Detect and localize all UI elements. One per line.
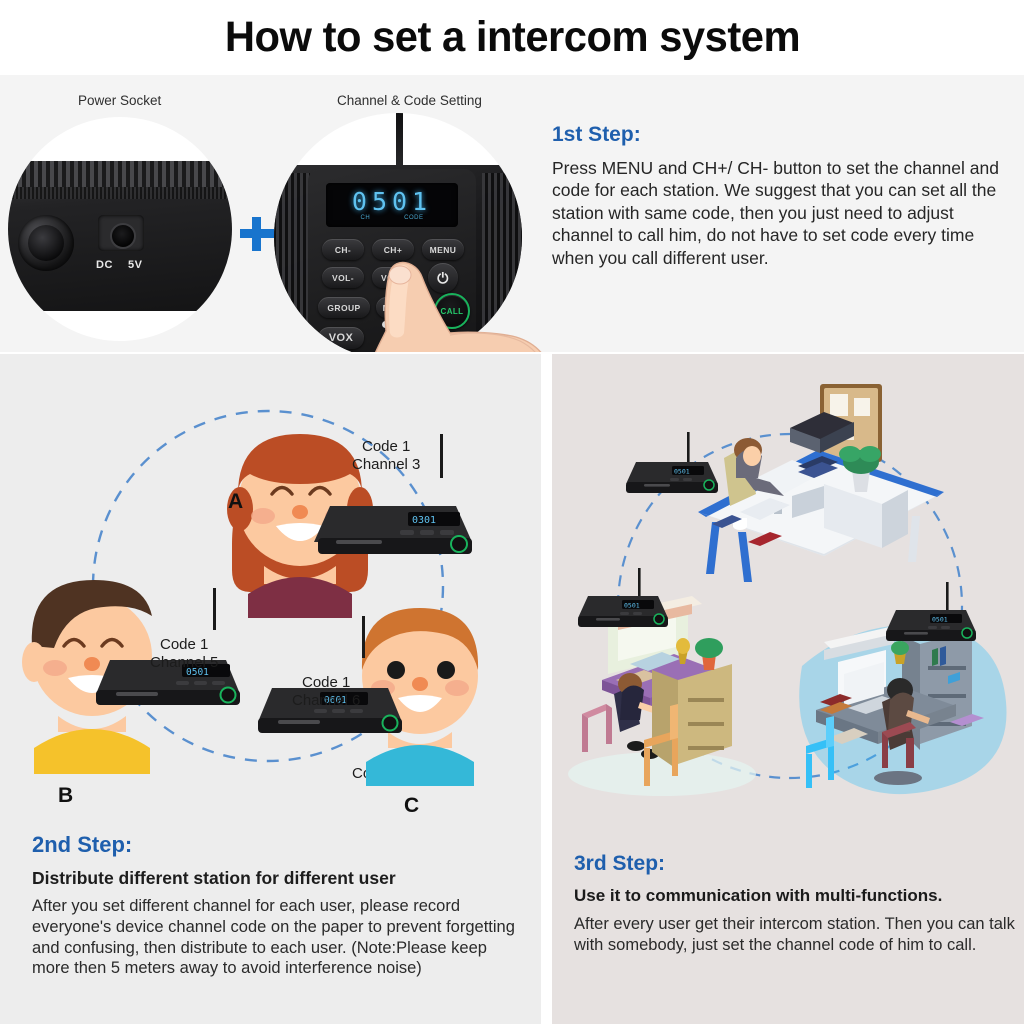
- person-c-code-label: Code 1 Channel 6: [292, 674, 360, 709]
- step3-text-block: 3rd Step: Use it to communication with m…: [574, 852, 1020, 956]
- socket-knob: [18, 215, 74, 271]
- person-c-letter: C: [404, 794, 419, 817]
- step1-body: Press MENU and CH+/ CH- button to set th…: [552, 157, 1014, 269]
- socket-vent-strip: [8, 187, 232, 199]
- socket-device-body: DC 5V: [8, 161, 232, 311]
- volts-label: 5V: [128, 259, 142, 271]
- dc-jack-hole: [110, 223, 136, 249]
- device-study: 0501: [886, 582, 976, 641]
- step3-diagram: 0501: [552, 354, 1024, 834]
- step2-diagram: A 0301 Code 1: [0, 354, 541, 824]
- scene-office-desk: [698, 384, 944, 582]
- step2-heading: 2nd Step:: [32, 832, 524, 858]
- plus-icon: [240, 217, 274, 251]
- svg-text:0501: 0501: [674, 468, 690, 476]
- svg-text:0501: 0501: [624, 602, 640, 610]
- display-ch-label: CH: [360, 215, 370, 221]
- antenna: [396, 113, 403, 173]
- person-c-channel-text: Channel 6: [292, 692, 360, 710]
- person-b-channel-text: Channel 5: [150, 654, 218, 672]
- step2-text-block: 2nd Step: Distribute different station f…: [32, 832, 524, 979]
- step1-text-block: 1st Step: Press MENU and CH+/ CH- button…: [552, 123, 1014, 269]
- person-b-letter: B: [58, 784, 73, 807]
- infographic-root: How to set a intercom system Power Socke…: [0, 0, 1024, 1024]
- page-title: How to set a intercom system: [224, 13, 799, 62]
- person-a-channel-text: Channel 3: [352, 456, 420, 474]
- display-sublabels: CH CODE: [360, 215, 423, 221]
- pointing-hand: [330, 257, 560, 352]
- socket-speaker-grill: [8, 161, 232, 187]
- person-a-code-label: Code 1 Channel 3: [352, 438, 420, 473]
- person-b-code-label: Code 1 Channel 5: [150, 636, 218, 671]
- person-b-code-text: Code 1: [150, 636, 218, 654]
- lcd-display: 0501 CH CODE: [326, 183, 458, 227]
- svg-text:0501: 0501: [932, 616, 948, 624]
- dc-jack: [98, 215, 144, 251]
- caption-power-socket: Power Socket: [78, 93, 161, 108]
- svg-text:0301: 0301: [412, 515, 436, 526]
- caption-channel-code-setting: Channel & Code Setting: [337, 93, 482, 108]
- step1-heading: 1st Step:: [552, 123, 1014, 147]
- display-code-label: CODE: [404, 215, 423, 221]
- step3-body: After every user get their intercom stat…: [574, 914, 1020, 956]
- step1-panel: Power Socket Channel & Code Setting DC 5…: [0, 75, 1024, 352]
- title-band: How to set a intercom system: [0, 0, 1024, 75]
- step2-panel: A 0301 Code 1: [0, 354, 541, 1024]
- display-value: 0501: [352, 189, 432, 214]
- power-socket-photo: DC 5V: [8, 117, 232, 341]
- step3-panel: 0501: [552, 354, 1024, 1024]
- person-a-letter: A: [228, 490, 243, 513]
- person-c-code-text: Code 1: [292, 674, 360, 692]
- step2-subheading: Distribute different station for differe…: [32, 868, 524, 889]
- device-office: 0501: [626, 432, 718, 493]
- step3-subheading: Use it to communication with multi-funct…: [574, 886, 1020, 906]
- socket-knob-inner: [28, 225, 64, 261]
- scene-study-room: [799, 625, 1006, 794]
- person-a-code-text: Code 1: [352, 438, 420, 456]
- step3-heading: 3rd Step:: [574, 852, 1020, 876]
- step2-body: After you set different channel for each…: [32, 896, 524, 979]
- device-home: 0501: [578, 568, 668, 627]
- dc-label: DC: [96, 259, 113, 271]
- speaker-mesh-left: [274, 173, 310, 352]
